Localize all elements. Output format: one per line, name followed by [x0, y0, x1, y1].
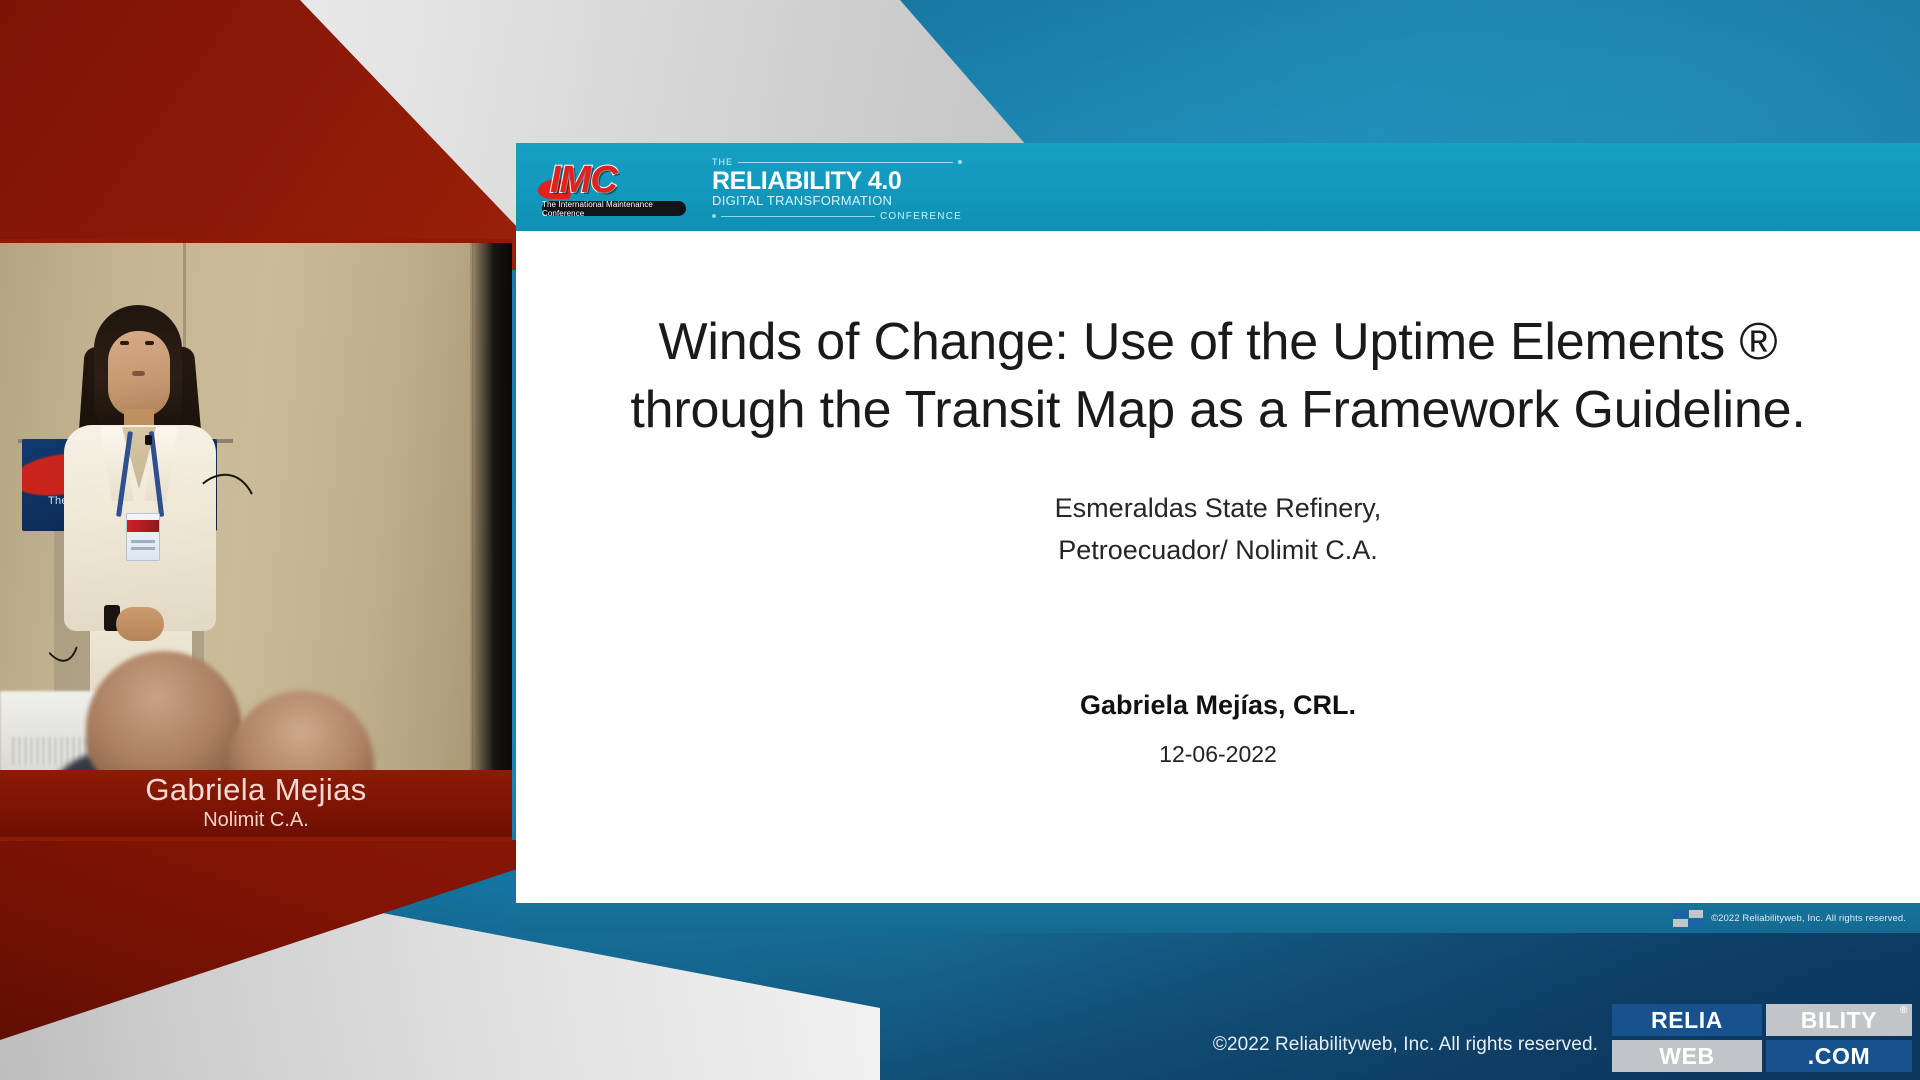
rule-dot	[712, 214, 716, 218]
logo-row-top: RELIA BILITY ®	[1612, 1004, 1912, 1036]
wall-dark-column	[472, 243, 512, 778]
eye-left	[120, 341, 129, 345]
reliabilityweb-logo[interactable]: RELIA BILITY ® WEB .COM	[1612, 1004, 1912, 1072]
slide-header-bar: IMC The International Maintenance Confer…	[516, 143, 1920, 231]
the-label-row: THE	[712, 157, 962, 167]
conference-badge	[126, 513, 160, 561]
rule-line	[738, 162, 953, 163]
rule-dot	[958, 160, 962, 164]
presentation-viewer: The	[0, 0, 1920, 1080]
digital-transformation-label: DIGITAL TRANSFORMATION	[712, 194, 962, 208]
slide-subtitle-line-1: Esmeraldas State Refinery,	[596, 488, 1840, 530]
slide-content: Winds of Change: Use of the Uptime Eleme…	[516, 231, 1920, 903]
lapel-microphone-icon	[145, 435, 152, 445]
speaker-video-frame: The	[0, 243, 512, 778]
badge-line	[131, 540, 155, 543]
speaker-video-panel[interactable]: The	[0, 239, 512, 841]
rule-line	[721, 216, 875, 217]
the-label: THE	[712, 157, 733, 167]
slide-footer-bar: ©2022 Reliabilityweb, Inc. All rights re…	[516, 903, 1920, 933]
slide-date: 12-06-2022	[596, 741, 1840, 768]
speaker-organization: Nolimit C.A.	[0, 808, 512, 833]
logo-web: WEB	[1612, 1040, 1762, 1072]
slide-subtitle-line-2: Petroecuador/ Nolimit C.A.	[596, 530, 1840, 572]
mouth	[132, 371, 145, 376]
badge-line	[131, 547, 155, 550]
speaker-name: Gabriela Mejias	[0, 774, 512, 807]
speaker-nameplate: Gabriela Mejias Nolimit C.A.	[0, 770, 512, 837]
slide-footer-copyright: ©2022 Reliabilityweb, Inc. All rights re…	[1711, 913, 1906, 924]
badge-stripe	[127, 520, 159, 532]
mini-logo-row	[1673, 919, 1703, 927]
mini-logo-cell	[1673, 910, 1688, 918]
imc-logo-mark: IMC	[538, 157, 688, 199]
eye-right	[145, 341, 154, 345]
mini-logo-cell	[1673, 919, 1688, 927]
mini-logo-cell	[1689, 910, 1704, 918]
reliability-label: RELIABILITY 4.0	[712, 168, 962, 194]
slide-surface[interactable]: IMC The International Maintenance Confer…	[516, 143, 1920, 933]
reliability-conference-lockup: THE RELIABILITY 4.0 DIGITAL TRANSFORMATI…	[712, 157, 962, 222]
mini-logo-row	[1673, 910, 1703, 918]
slide-author: Gabriela Mejías, CRL.	[596, 690, 1840, 721]
logo-dotcom: .COM	[1766, 1040, 1912, 1072]
logo-bility: BILITY ®	[1766, 1004, 1912, 1036]
conference-label-row: CONFERENCE	[712, 211, 962, 222]
conference-label: CONFERENCE	[880, 211, 962, 222]
slide-title: Winds of Change: Use of the Uptime Eleme…	[596, 309, 1840, 444]
reliabilityweb-mini-logo-icon	[1673, 910, 1703, 927]
imc-logo: IMC The International Maintenance Confer…	[538, 157, 688, 219]
imc-tagline: The International Maintenance Conference	[542, 201, 686, 216]
page-copyright: ©2022 Reliabilityweb, Inc. All rights re…	[1213, 1034, 1598, 1056]
logo-relia: RELIA	[1612, 1004, 1762, 1036]
registered-mark-icon: ®	[1900, 1005, 1908, 1016]
logo-row-bottom: WEB .COM	[1612, 1040, 1912, 1072]
mini-logo-cell	[1689, 919, 1704, 927]
imc-logo-text: IMC	[550, 159, 617, 202]
logo-bility-text: BILITY	[1801, 1007, 1877, 1034]
